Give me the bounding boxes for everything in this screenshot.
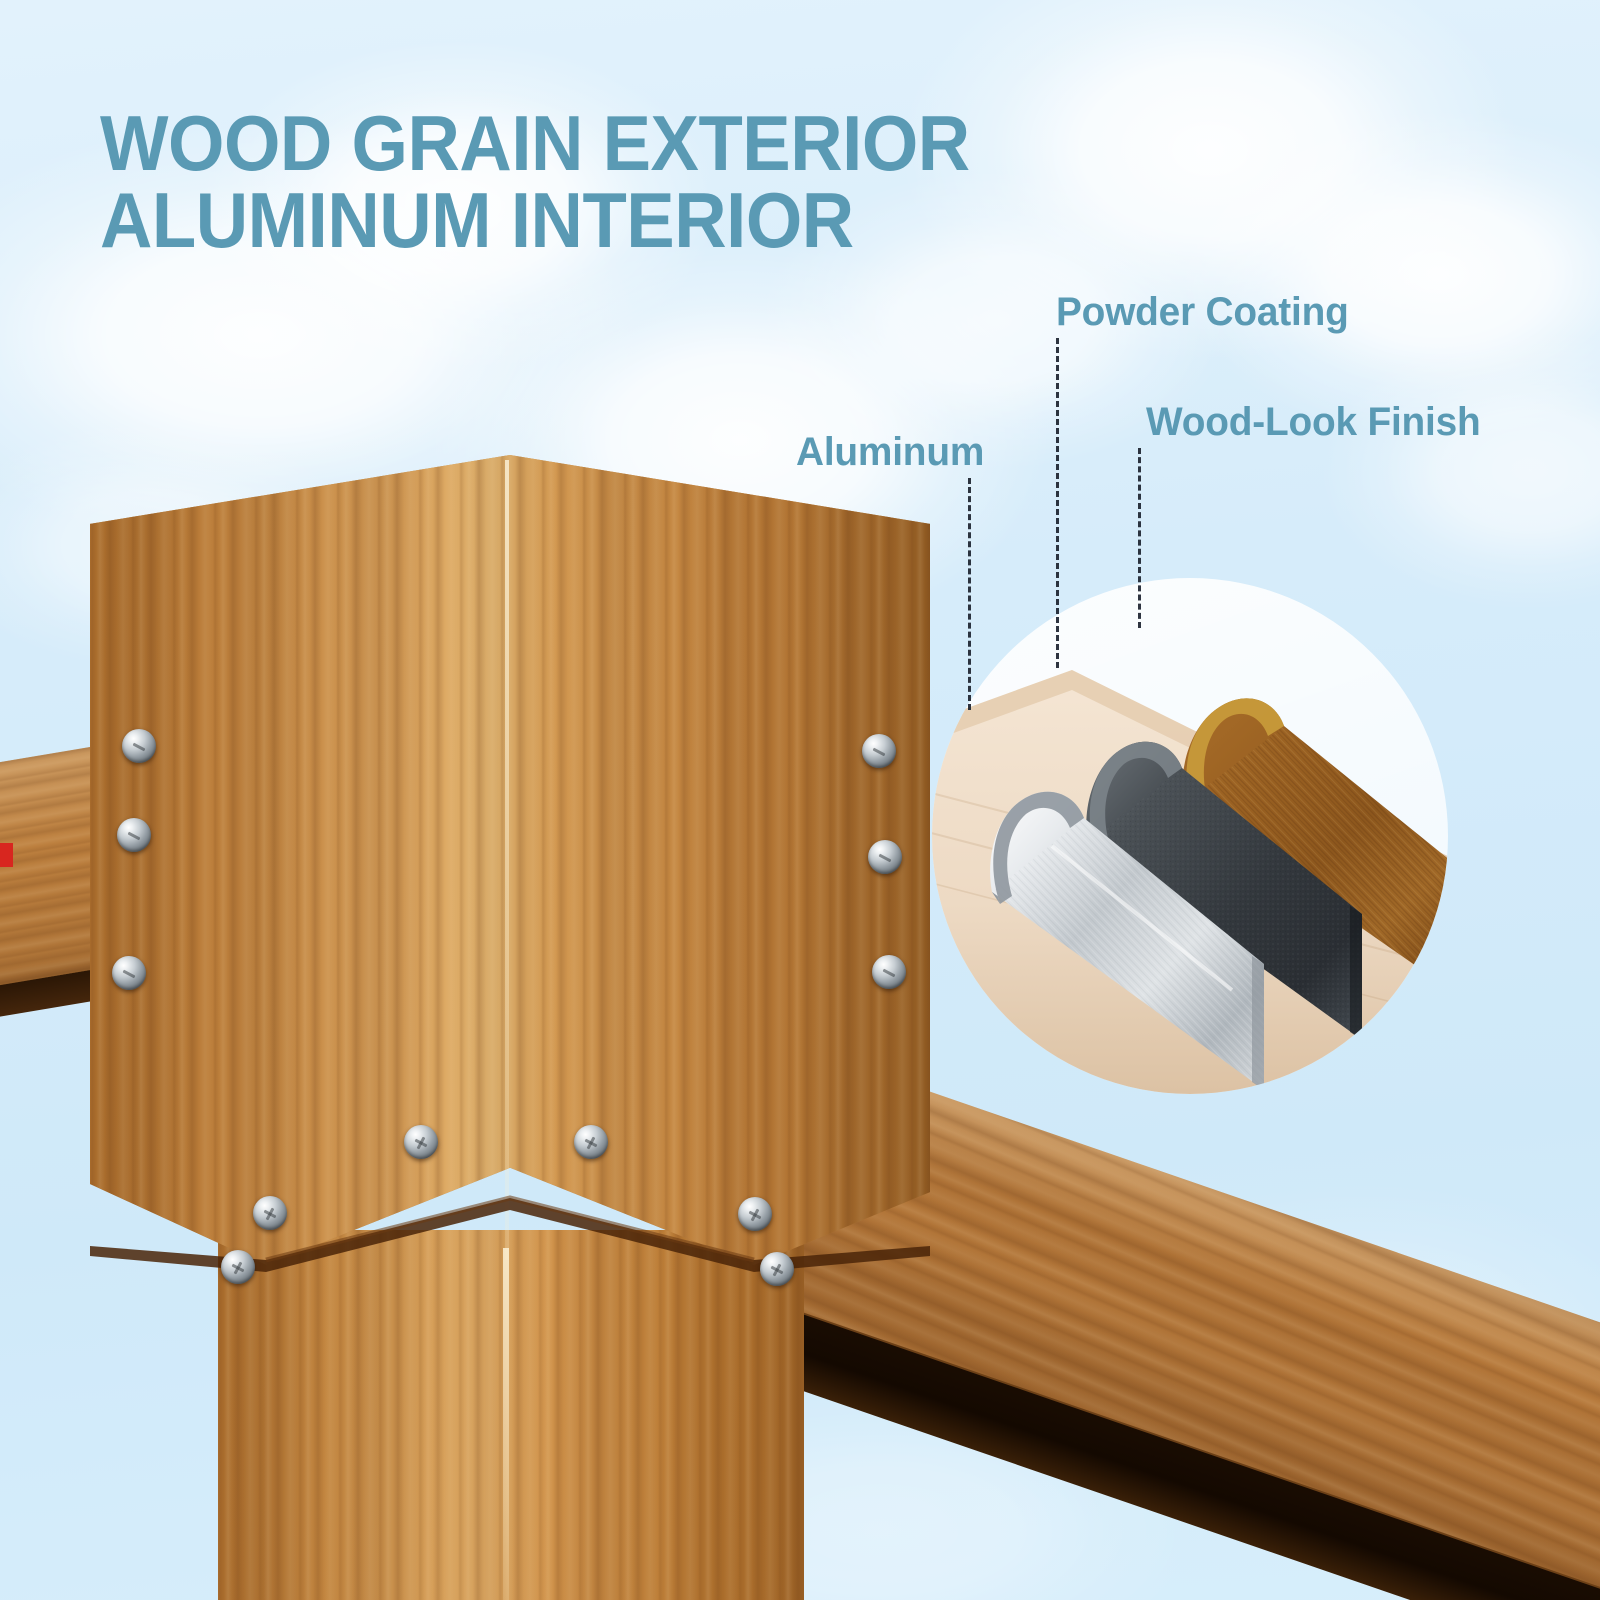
- screw-icon: [574, 1125, 608, 1159]
- post-shaft: [218, 1230, 804, 1600]
- screw-icon: [122, 729, 156, 763]
- page-title: Wood Grain Exterior Aluminum Interior: [100, 28, 1170, 337]
- screw-icon: [112, 956, 146, 990]
- screw-icon: [760, 1252, 794, 1286]
- dashed-leader-line-icon: [968, 478, 971, 710]
- material-cross-section-inset: [932, 578, 1448, 1094]
- callout-label-wood-look-finish: Wood-Look Finish: [1146, 400, 1481, 445]
- product-feature-image: Aluminum Powder Coating Wood-Look Finish…: [0, 0, 1600, 1600]
- screw-icon: [862, 734, 896, 768]
- bracket-corner-highlight: [505, 460, 509, 1260]
- callout-label-aluminum: Aluminum: [796, 430, 984, 475]
- accent-marker: [0, 843, 13, 867]
- screw-icon: [738, 1197, 772, 1231]
- bracket-bottom-seam: [90, 1160, 930, 1272]
- screw-icon: [117, 818, 151, 852]
- headline-line-1: Wood Grain Exterior: [100, 99, 970, 187]
- post-shaft-corner-highlight: [503, 1248, 509, 1600]
- screw-icon: [868, 840, 902, 874]
- screw-icon: [404, 1125, 438, 1159]
- screw-icon: [872, 955, 906, 989]
- screw-icon: [221, 1250, 255, 1284]
- post-corner-bracket: [90, 455, 930, 1265]
- screw-icon: [253, 1196, 287, 1230]
- dashed-leader-line-icon: [1138, 448, 1141, 628]
- dashed-leader-line-icon: [1056, 338, 1059, 668]
- headline-line-2: Aluminum Interior: [100, 182, 1170, 259]
